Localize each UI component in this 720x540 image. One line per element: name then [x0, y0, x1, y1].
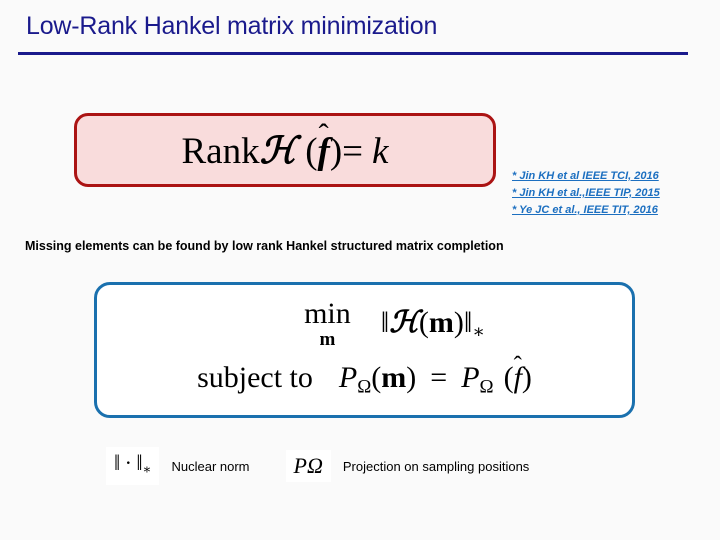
- rank-label: Rank: [182, 131, 260, 172]
- citation-link-1[interactable]: * Jin KH et al IEEE TCI, 2016: [512, 168, 660, 185]
- hankel-operator-icon: ℋ: [389, 305, 419, 340]
- rank-equation-box: Rankℋ(̂f)=k: [74, 113, 496, 187]
- rank-equation: Rankℋ(̂f)=k: [182, 128, 389, 173]
- close-paren: ): [522, 361, 532, 394]
- hat-accent-icon: ̂: [514, 354, 522, 379]
- close-paren: ): [330, 131, 342, 172]
- open-paren: (: [504, 361, 514, 394]
- citation-list: * Jin KH et al IEEE TCI, 2016 * Jin KH e…: [512, 168, 660, 219]
- projection-symbol-lhs: P: [339, 361, 357, 394]
- constraint-line: subject toPΩ(m)=PΩ(̂f): [97, 361, 632, 398]
- projection-subscript-rhs: Ω: [480, 376, 494, 397]
- open-paren: (: [419, 306, 429, 339]
- rank-value: k: [372, 131, 388, 172]
- equals-sign: =: [430, 361, 447, 394]
- norm-open-bar: ‖: [381, 306, 389, 339]
- citation-link-2[interactable]: * Jin KH et al.,IEEE TIP, 2015: [512, 185, 660, 202]
- projection-symbol: PΩ: [286, 450, 331, 482]
- measurement-variable: m: [381, 361, 406, 394]
- caption-text: Missing elements can be found by low ran…: [25, 239, 504, 253]
- subject-to-label: subject to: [197, 361, 313, 394]
- title-divider: [18, 52, 688, 55]
- norm-open-bar: ‖: [114, 450, 120, 475]
- nuclear-norm-label: Nuclear norm: [171, 459, 249, 474]
- min-variable: m: [304, 330, 351, 349]
- objective-line: min m ‖ℋ(m)‖∗: [97, 299, 632, 349]
- projection-subscript-lhs: Ω: [357, 376, 371, 397]
- nuclear-norm-symbol: ‖ · ‖∗: [106, 447, 159, 486]
- open-paren: (: [305, 131, 317, 172]
- close-paren: ): [406, 361, 416, 394]
- nuclear-norm-star-icon: ∗: [472, 321, 485, 342]
- projection-symbol-rhs: P: [461, 361, 479, 394]
- matrix-variable: m: [429, 306, 454, 339]
- optimization-box: min m ‖ℋ(m)‖∗ subject toPΩ(m)=PΩ(̂f): [94, 282, 635, 418]
- citation-link-3[interactable]: * Ye JC et al., IEEE TIT, 2016: [512, 202, 660, 219]
- objective-expression: ‖ℋ(m)‖∗: [381, 305, 485, 344]
- page-title: Low-Rank Hankel matrix minimization: [26, 12, 437, 41]
- hankel-operator-icon: ℋ: [260, 128, 297, 172]
- projection-label: Projection on sampling positions: [343, 459, 529, 474]
- close-paren: ): [454, 306, 464, 339]
- min-operator: min m: [304, 299, 351, 349]
- min-label: min: [304, 299, 351, 329]
- equals-sign: =: [342, 131, 363, 172]
- hat-accent-icon: ̂: [318, 120, 330, 150]
- open-paren: (: [371, 361, 381, 394]
- legend: ‖ · ‖∗ Nuclear norm PΩ Projection on sam…: [106, 449, 529, 483]
- nuclear-norm-star-icon: ∗: [143, 461, 152, 476]
